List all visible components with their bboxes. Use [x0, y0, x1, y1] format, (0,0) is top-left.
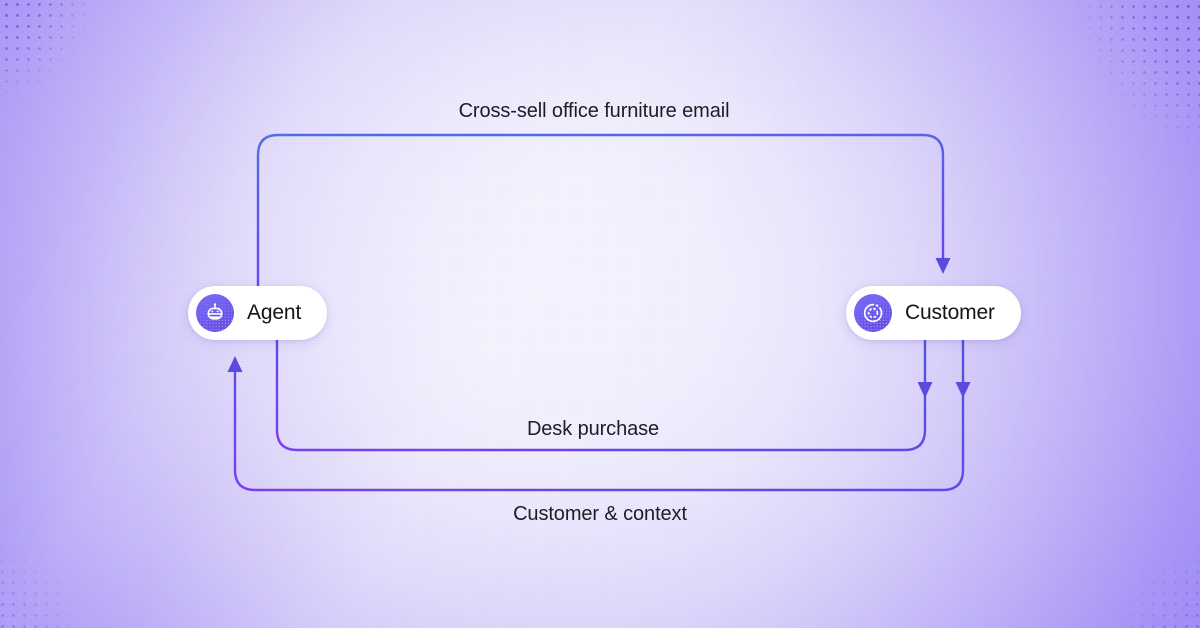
node-customer[interactable]: Customer	[846, 286, 1021, 340]
spinner-icon	[854, 294, 892, 332]
edge-label-cross-sell: Cross-sell office furniture email	[459, 98, 730, 124]
edge-customer-context	[228, 340, 971, 490]
edge-label-customer-context: Customer & context	[513, 501, 687, 527]
edge-cross-sell	[258, 135, 951, 292]
diagram-canvas: Cross-sell office furniture email Desk p…	[0, 0, 1200, 628]
node-customer-label: Customer	[905, 301, 995, 325]
node-agent-label: Agent	[247, 301, 301, 325]
robot-icon	[196, 294, 234, 332]
edge-label-desk-purchase: Desk purchase	[527, 416, 659, 442]
node-agent[interactable]: Agent	[188, 286, 327, 340]
